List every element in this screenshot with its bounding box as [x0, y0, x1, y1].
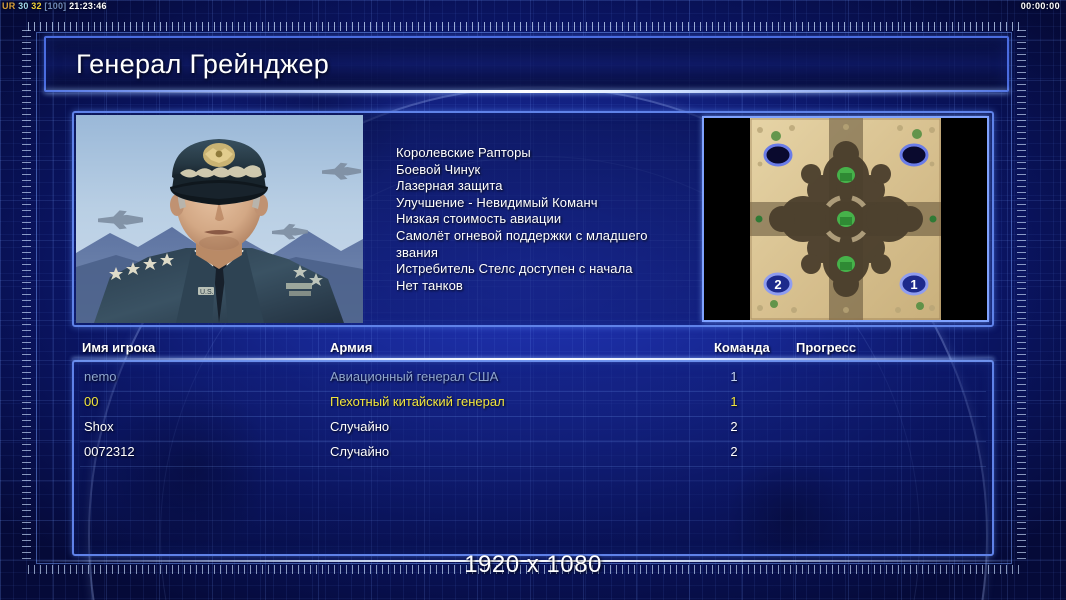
system-clock: 21:23:46 [69, 1, 107, 11]
player-army: Авиационный генерал США [330, 369, 498, 384]
page-title-bar: Генерал Грейнджер [44, 36, 1009, 92]
general-info-panel: U.S. [72, 111, 994, 327]
player-army: Случайно [330, 444, 389, 459]
player-name: 0072312 [84, 444, 135, 459]
player-team: 2 [722, 444, 746, 459]
bonus-item: Королевские Рапторы [396, 145, 696, 162]
table-header-rule [72, 358, 994, 360]
general-portrait: U.S. [76, 115, 363, 323]
net-bracket: [100] [44, 1, 66, 11]
bonus-item: звания [396, 245, 696, 262]
svg-text:1: 1 [910, 277, 917, 292]
player-table-header: Имя игрока Армия Команда Прогресс [72, 340, 994, 358]
bonus-item: Нет танков [396, 278, 696, 295]
bonus-item: Боевой Чинук [396, 162, 696, 179]
table-row[interactable]: 00 Пехотный китайский генерал 1 [74, 391, 992, 416]
table-row[interactable]: Shox Случайно 2 [74, 416, 992, 441]
network-stats-overlay: UR 30 32 [100] 21:23:46 [2, 1, 107, 12]
header-player-name: Имя игрока [82, 340, 155, 355]
ruler-top [28, 22, 1020, 31]
player-team: 2 [722, 419, 746, 434]
player-progress-bar [798, 419, 986, 433]
map-preview-image: 2 1 [704, 118, 987, 320]
player-name: 00 [84, 394, 98, 409]
player-progress-bar [798, 369, 986, 383]
bonus-item: Лазерная защита [396, 178, 696, 195]
header-progress: Прогресс [796, 340, 856, 355]
player-progress-bar [798, 394, 986, 408]
map-preview[interactable]: 2 1 [702, 116, 989, 322]
bonus-item: Истребитель Стелс доступен с начала [396, 261, 696, 278]
title-underline [44, 90, 1009, 93]
bonus-item: Улучшение - Невидимый Команч [396, 195, 696, 212]
table-row[interactable]: 0072312 Случайно 2 [74, 441, 992, 466]
player-army: Случайно [330, 419, 389, 434]
bonus-item: Низкая стоимость авиации [396, 211, 696, 228]
ruler-left [22, 30, 31, 560]
game-timer: 00:00:00 [1021, 1, 1060, 11]
player-team: 1 [722, 394, 746, 409]
general-portrait-image: U.S. [76, 115, 363, 323]
net-prefix: UR [2, 1, 15, 11]
player-team: 1 [722, 369, 746, 384]
svg-text:U.S.: U.S. [200, 289, 214, 296]
bonus-item: Самолёт огневой поддержки с младшего [396, 228, 696, 245]
player-army: Пехотный китайский генерал [330, 394, 505, 409]
resolution-label: 1920 x 1080 [0, 551, 1066, 579]
row-divider [80, 466, 986, 467]
net-value-2: 32 [31, 1, 41, 11]
player-name: nemo [84, 369, 117, 384]
player-list-panel: nemo Авиационный генерал США 1 00 Пехотн… [72, 360, 994, 556]
header-team: Команда [714, 340, 770, 355]
svg-text:2: 2 [774, 277, 781, 292]
net-value-1: 30 [18, 1, 28, 11]
general-bonus-list: Королевские Рапторы Боевой Чинук Лазерна… [396, 145, 696, 294]
player-progress-bar [798, 444, 986, 458]
header-army: Армия [330, 340, 372, 355]
page-title: Генерал Грейнджер [46, 49, 329, 80]
ruler-right [1017, 30, 1026, 560]
table-row[interactable]: nemo Авиационный генерал США 1 [74, 366, 992, 391]
player-name: Shox [84, 419, 114, 434]
